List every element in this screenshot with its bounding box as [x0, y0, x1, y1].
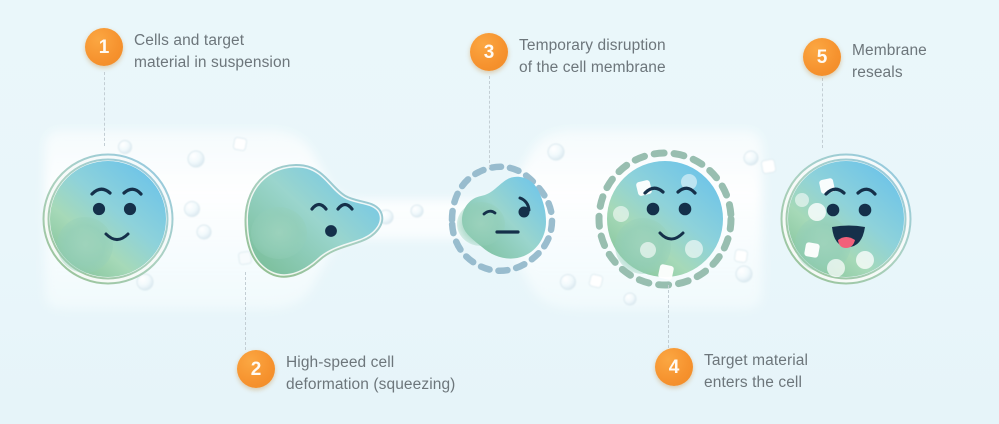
step-label-4: Target material enters the cell — [704, 348, 808, 394]
callout-step-3[interactable]: 3 Temporary disruption of the cell membr… — [470, 33, 666, 79]
step-badge-4: 4 — [655, 348, 693, 386]
step-badge-1: 1 — [85, 28, 123, 66]
step-label-5: Membrane reseals — [852, 38, 927, 84]
connector-line-4 — [668, 285, 669, 348]
internalized-material — [795, 178, 874, 277]
step-label-2: High-speed cell deformation (squeezing) — [286, 350, 455, 396]
step-badge-5: 5 — [803, 38, 841, 76]
step-label-1: Cells and target material in suspension — [134, 28, 290, 74]
connector-line-5 — [822, 78, 823, 148]
step-label-3: Temporary disruption of the cell membran… — [519, 33, 666, 79]
suspension-particles — [119, 137, 777, 305]
step-badge-2: 2 — [237, 350, 275, 388]
cell-1-round-happy — [46, 157, 170, 281]
connector-line-3 — [489, 76, 490, 168]
connector-line-1 — [104, 72, 105, 146]
callout-step-5[interactable]: 5 Membrane reseals — [803, 38, 927, 84]
cell-3-disrupted — [452, 167, 552, 271]
callout-step-1[interactable]: 1 Cells and target material in suspensio… — [85, 28, 290, 74]
cell-squeezing-diagram: 1 Cells and target material in suspensio… — [0, 0, 999, 424]
step-badge-3: 3 — [470, 33, 508, 71]
internalized-material — [613, 174, 703, 280]
cell-5-resealed — [784, 157, 908, 281]
callout-step-4[interactable]: 4 Target material enters the cell — [655, 348, 808, 394]
cell-4-loaded — [599, 153, 731, 285]
channel-body — [45, 130, 762, 309]
connector-line-2 — [245, 272, 246, 350]
cell-2-deforming — [248, 167, 380, 274]
callout-step-2[interactable]: 2 High-speed cell deformation (squeezing… — [237, 350, 455, 396]
